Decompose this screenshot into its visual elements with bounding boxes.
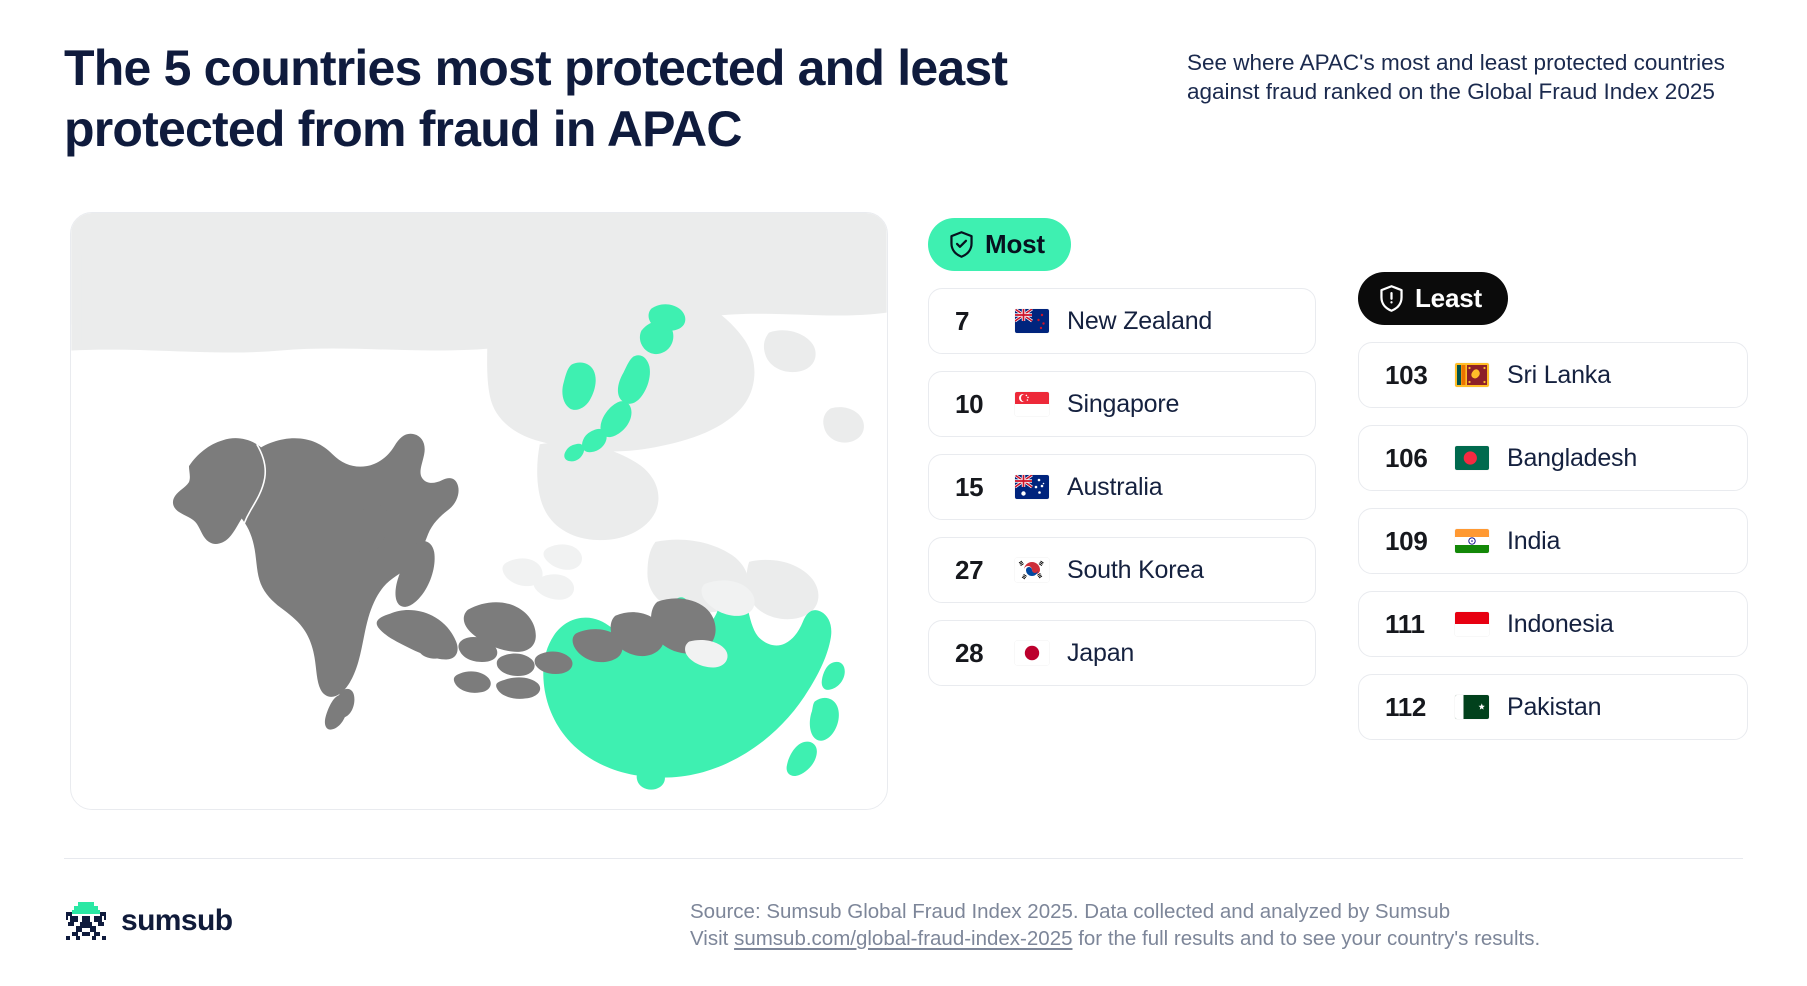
list-item[interactable]: 28 Japan	[928, 620, 1316, 686]
source-visit-prefix: Visit	[690, 927, 734, 950]
flag-sri-lanka-icon	[1455, 363, 1489, 387]
footer-divider	[64, 858, 1743, 859]
country-name: Singapore	[1067, 390, 1179, 419]
flag-singapore-icon	[1015, 392, 1049, 416]
list-item[interactable]: 7 New Zealand	[928, 288, 1316, 354]
flag-indonesia-icon	[1455, 612, 1489, 636]
least-badge-label: Least	[1415, 283, 1482, 314]
rank-value: 106	[1359, 443, 1455, 474]
list-item[interactable]: 111 Indonesia	[1358, 591, 1748, 657]
rank-value: 15	[929, 472, 1015, 503]
list-item[interactable]: 27 South Korea	[928, 537, 1316, 603]
list-item[interactable]: 103 Sri Lanka	[1358, 342, 1748, 408]
most-protected-column: Most 7 New Zealand 10 Singapore 15	[928, 218, 1316, 686]
most-list: 7 New Zealand 10 Singapore 15 Australia	[928, 288, 1316, 686]
rank-value: 27	[929, 555, 1015, 586]
source-note: Source: Sumsub Global Fraud Index 2025. …	[690, 898, 1750, 952]
list-item[interactable]: 109 India	[1358, 508, 1748, 574]
country-name: New Zealand	[1067, 307, 1212, 336]
flag-south-korea-icon	[1015, 558, 1049, 582]
flag-bangladesh-icon	[1455, 446, 1489, 470]
page-subtitle: See where APAC's most and least protecte…	[1187, 48, 1747, 106]
country-name: India	[1507, 527, 1560, 556]
sumsub-logo: sumsub	[64, 900, 232, 942]
flag-new-zealand-icon	[1015, 309, 1049, 333]
sumsub-wordmark: sumsub	[121, 904, 232, 938]
flag-india-icon	[1455, 529, 1489, 553]
rank-value: 28	[929, 638, 1015, 669]
page-title: The 5 countries most protected and least…	[64, 38, 1179, 160]
rank-value: 112	[1359, 692, 1455, 723]
country-name: Bangladesh	[1507, 444, 1637, 473]
country-name: Australia	[1067, 473, 1162, 502]
rank-value: 111	[1359, 609, 1455, 640]
source-line-2: Visit sumsub.com/global-fraud-index-2025…	[690, 925, 1750, 952]
header: The 5 countries most protected and least…	[0, 0, 1807, 175]
least-protected-column: Least 103 Sri Lanka 106 Bangladesh 109	[1358, 272, 1748, 740]
source-link[interactable]: sumsub.com/global-fraud-index-2025	[734, 927, 1072, 950]
country-name: Indonesia	[1507, 610, 1614, 639]
most-badge: Most	[928, 218, 1071, 271]
apac-map-panel	[70, 212, 888, 810]
flag-pakistan-icon	[1455, 695, 1489, 719]
least-list: 103 Sri Lanka 106 Bangladesh 109 India	[1358, 342, 1748, 740]
flag-australia-icon	[1015, 475, 1049, 499]
country-name: South Korea	[1067, 556, 1204, 585]
sumsub-invader-icon	[64, 900, 108, 942]
country-name: Japan	[1067, 639, 1134, 668]
shield-alert-icon	[1378, 284, 1405, 313]
list-item[interactable]: 112 Pakistan	[1358, 674, 1748, 740]
most-badge-label: Most	[985, 229, 1045, 260]
list-item[interactable]: 10 Singapore	[928, 371, 1316, 437]
rank-value: 10	[929, 389, 1015, 420]
shield-check-icon	[948, 230, 975, 259]
least-badge: Least	[1358, 272, 1508, 325]
list-item[interactable]: 15 Australia	[928, 454, 1316, 520]
flag-japan-icon	[1015, 641, 1049, 665]
infographic-card: The 5 countries most protected and least…	[0, 0, 1807, 986]
rank-value: 109	[1359, 526, 1455, 557]
rank-value: 103	[1359, 360, 1455, 391]
apac-map	[71, 213, 887, 809]
country-name: Sri Lanka	[1507, 361, 1611, 390]
list-item[interactable]: 106 Bangladesh	[1358, 425, 1748, 491]
source-visit-suffix: for the full results and to see your cou…	[1073, 927, 1541, 950]
rank-value: 7	[929, 306, 1015, 337]
source-line-1: Source: Sumsub Global Fraud Index 2025. …	[690, 898, 1750, 925]
country-name: Pakistan	[1507, 693, 1601, 722]
